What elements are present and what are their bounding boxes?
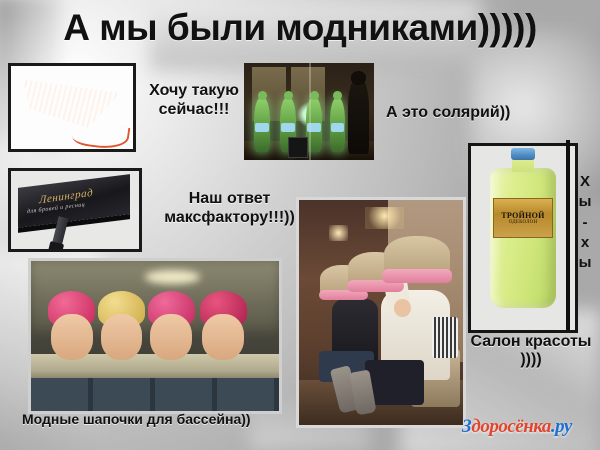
face	[150, 314, 191, 360]
watermark-part-1: З	[462, 416, 471, 437]
caption-swim-caps: Модные шапочки для бассейна))	[22, 411, 292, 427]
bottle-body	[490, 168, 556, 308]
dryer-pink-band	[382, 269, 452, 283]
lamp-base	[288, 137, 308, 158]
crimp-ridges	[19, 74, 123, 130]
photo-mascara-box: Ленинград для бровей и ресниц	[8, 168, 142, 252]
watermark-part-3: .ру	[551, 416, 572, 437]
photo-beauty-salon	[296, 197, 466, 428]
hood-dryer	[384, 236, 450, 299]
bottle-label-sub: ОДЕКОЛОН	[509, 220, 538, 225]
girl-in-cap	[148, 291, 195, 360]
girl-in-cap	[98, 291, 145, 360]
adult-silhouette	[348, 79, 369, 155]
watermark-part-2: доросёнка	[471, 416, 551, 437]
photo-crimped-hair-piece	[8, 63, 136, 152]
ceiling-light	[145, 270, 200, 284]
pool-tiles	[31, 378, 279, 411]
caption-max-factor: Наш ответ максфактору!!!))	[142, 190, 317, 227]
site-watermark[interactable]: Здоросёнка.ру	[462, 416, 594, 442]
bottle-cap	[511, 148, 535, 160]
panel-divider	[309, 63, 311, 160]
child-figure	[254, 98, 270, 152]
photo-solarium	[244, 63, 374, 160]
bottle-label-main: ТРОЙНОЙ	[501, 211, 544, 220]
girl-in-cap	[200, 291, 247, 360]
caption-want-it-now: Хочу такую сейчас!!!	[139, 82, 249, 119]
hy-hy-line: ы	[575, 253, 595, 273]
caption-beauty-salon: Салон красоты ))))	[470, 333, 592, 370]
photo-cologne-bottle: ТРОЙНОЙ ОДЕКОЛОН	[468, 143, 578, 333]
solarium-room	[244, 63, 374, 160]
poster-title: А мы были модниками)))))	[0, 6, 600, 50]
photo-swimming-caps	[28, 258, 282, 414]
hy-hy-line: -	[575, 213, 595, 233]
face	[51, 314, 92, 360]
girl-in-cap	[48, 291, 95, 360]
hy-hy-line: ы	[575, 192, 595, 212]
child-figure	[330, 98, 346, 152]
meme-collage: А мы были модниками))))) Ленинград для б…	[0, 0, 600, 450]
divider-bar	[566, 140, 570, 330]
face	[202, 314, 243, 360]
hy-hy-line: Х	[575, 172, 595, 192]
face	[101, 314, 142, 360]
hy-hy-line: х	[575, 233, 595, 253]
bottle-label: ТРОЙНОЙ ОДЕКОЛОН	[493, 198, 553, 238]
wall-sconce	[329, 225, 349, 241]
caption-hy-hy: Х ы - х ы	[575, 172, 595, 273]
handbag	[432, 317, 458, 358]
crimp-cord	[72, 120, 131, 152]
caption-solarium: А это солярий))	[386, 104, 551, 123]
chandelier	[365, 207, 404, 230]
